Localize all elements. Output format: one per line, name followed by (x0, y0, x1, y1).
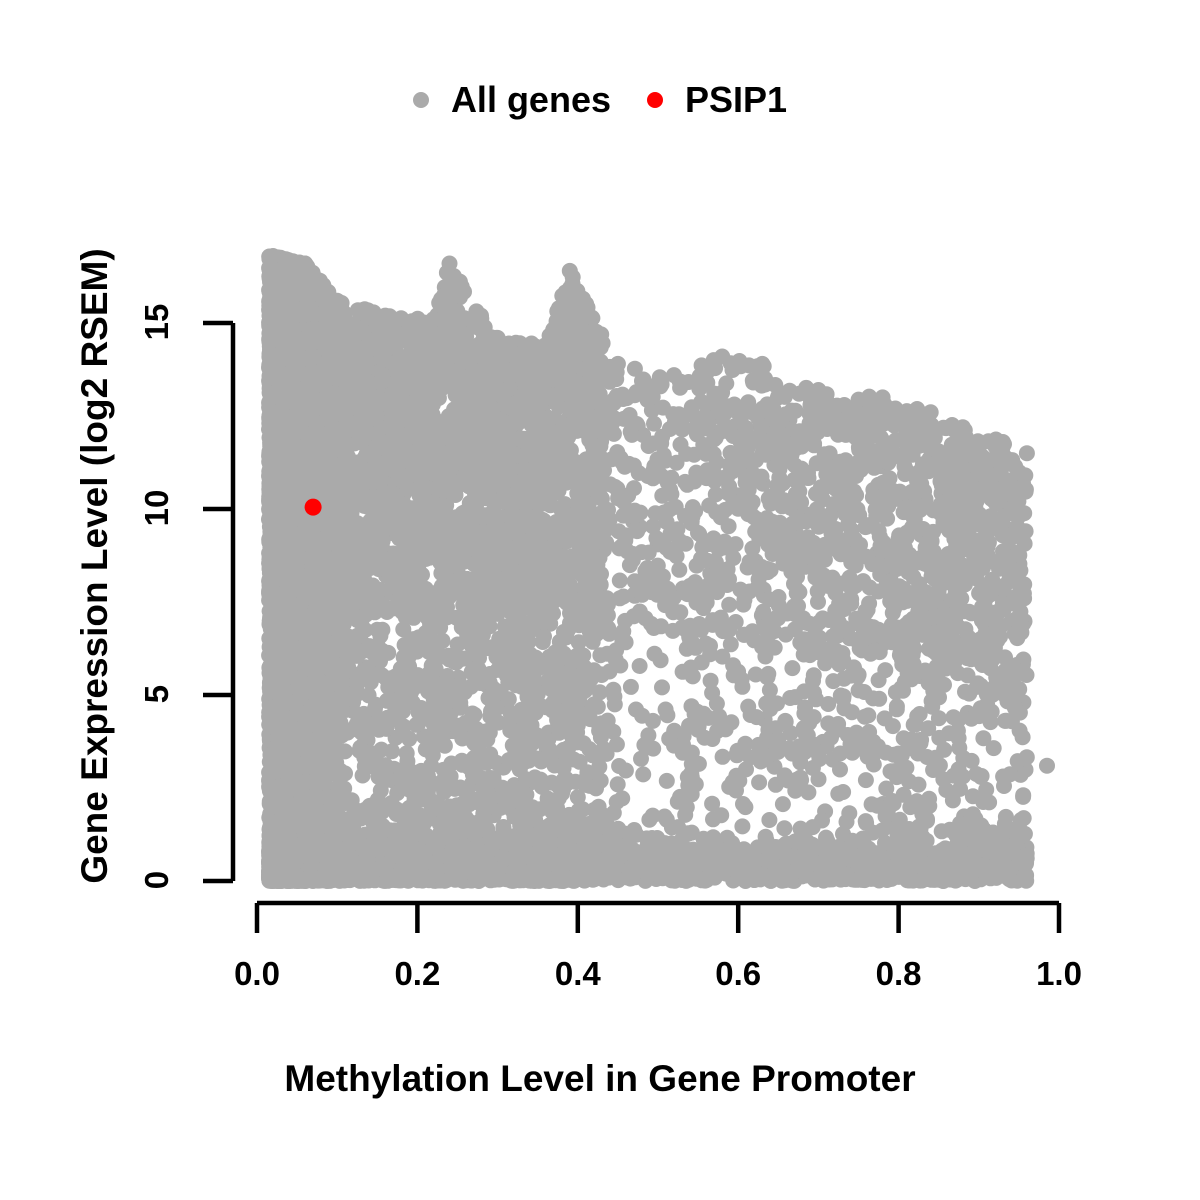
data-point (671, 562, 687, 578)
data-points-layer (261, 248, 1055, 889)
data-point (885, 718, 901, 734)
data-point (784, 660, 800, 676)
scatter-plot-figure: All genes PSIP1 Methylation Level in Gen… (0, 0, 1200, 1200)
data-point (647, 646, 663, 662)
data-point (734, 818, 750, 834)
data-point (654, 679, 670, 695)
plot-canvas (0, 0, 1200, 1200)
data-point (839, 814, 855, 830)
